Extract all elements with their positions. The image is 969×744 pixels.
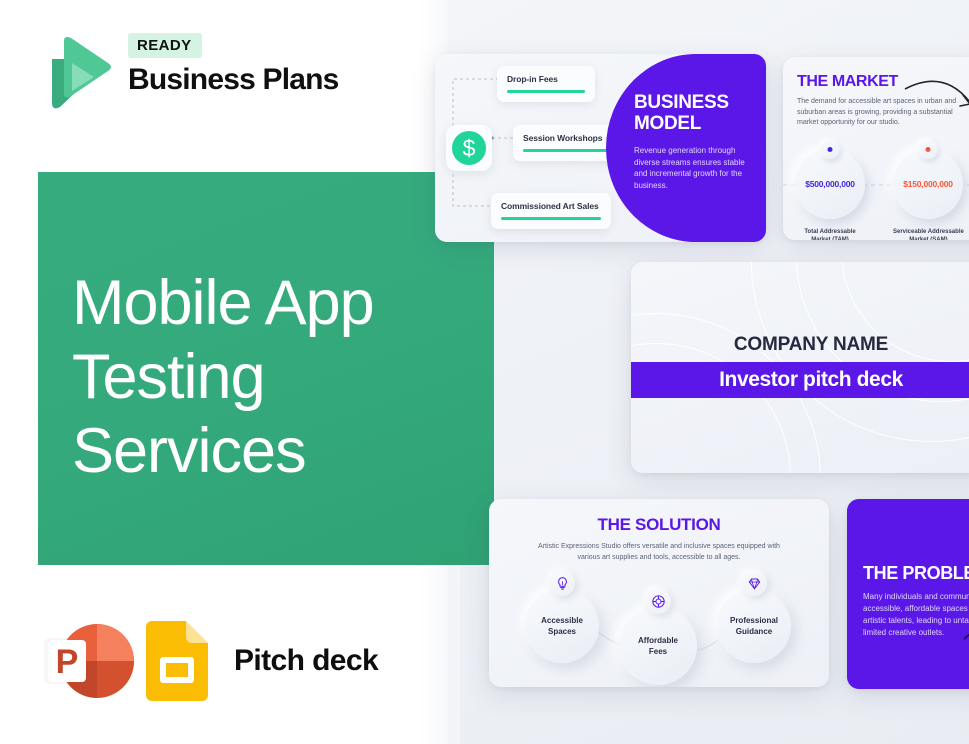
format-footer: P Pitch deck (42, 615, 378, 707)
page-title: Mobile App Testing Services (72, 266, 472, 488)
dollar-icon: $ (452, 131, 486, 165)
problem-title: THE PROBLEM (863, 563, 969, 584)
brand-logo: READY Business Plans (42, 33, 342, 115)
page-title-line-1: Mobile App (72, 266, 472, 340)
brand-name: Business Plans (128, 63, 339, 97)
caption-line-2: Market (SAM) (893, 236, 964, 240)
green-play-logo-icon (42, 35, 114, 111)
page-title-line-2: Testing (72, 340, 472, 414)
brand-logo-text: READY Business Plans (128, 33, 339, 97)
caption-line-1: Total Addressable (795, 228, 865, 236)
slide-market[interactable]: THE MARKET The demand for accessible art… (783, 57, 969, 240)
diamond-icon-holder (741, 570, 767, 596)
chip-label: Commissioned Art Sales (501, 201, 601, 211)
market-metric-1: $500,000,000 Total Addressable Market (T… (795, 149, 865, 240)
market-metric-circle: $150,000,000 (893, 149, 963, 219)
page-title-line-3: Services (72, 414, 472, 488)
market-metric-dot (828, 147, 833, 152)
slide-solution[interactable]: THE SOLUTION Artistic Expressions Studio… (489, 499, 829, 687)
market-metric-value: $150,000,000 (903, 179, 953, 189)
business-model-dollar-badge: $ (446, 125, 492, 171)
business-model-chip-3[interactable]: Commissioned Art Sales (491, 193, 611, 229)
business-model-title-line-2: MODEL (634, 113, 750, 134)
market-metric-dot (926, 147, 931, 152)
chip-bar (501, 217, 601, 220)
powerpoint-icon: P (42, 618, 134, 704)
slide-pitch-deck[interactable]: COMPANY NAME Investor pitch deck (631, 262, 969, 473)
label-line-2: Guidance (730, 626, 778, 637)
svg-text:P: P (56, 643, 79, 681)
problem-description: Many individuals and communities lack ac… (863, 591, 969, 639)
poster-canvas: READY Business Plans Mobile App Testing … (0, 0, 969, 744)
target-icon (651, 594, 666, 609)
format-footer-label: Pitch deck (234, 644, 378, 678)
solution-item-3[interactable]: Professional Guidance (717, 589, 791, 663)
label-line-2: Fees (638, 646, 678, 657)
solution-item-label: Professional Guidance (730, 615, 778, 637)
business-model-title: BUSINESS MODEL (634, 92, 750, 134)
business-model-chip-1[interactable]: Drop-in Fees (497, 66, 595, 102)
pitch-deck-subtitle-band: Investor pitch deck (631, 362, 969, 398)
label-line-1: Accessible (541, 615, 583, 626)
solution-item-label: Affordable Fees (638, 635, 678, 657)
diamond-icon (747, 576, 762, 591)
caption-line-2: Market (TAM) (795, 236, 865, 240)
chip-label: Drop-in Fees (507, 74, 585, 84)
market-metric-caption: Total Addressable Market (TAM) (795, 228, 865, 240)
market-title: THE MARKET (797, 73, 898, 91)
market-metric-caption: Serviceable Addressable Market (SAM) (893, 228, 964, 240)
chip-label: Session Workshops (523, 133, 615, 143)
label-line-1: Professional (730, 615, 778, 626)
google-slides-icon (146, 621, 208, 701)
pitch-deck-subtitle: Investor pitch deck (719, 368, 903, 392)
market-metric-2: $150,000,000 Serviceable Addressable Mar… (893, 149, 964, 240)
market-metric-dot-holder (821, 140, 840, 159)
chip-bar (523, 149, 615, 152)
target-icon-holder (645, 588, 671, 614)
market-metric-value: $500,000,000 (805, 179, 855, 189)
lightbulb-icon (555, 576, 570, 591)
chip-bar (507, 90, 585, 93)
caption-line-1: Serviceable Addressable (893, 228, 964, 236)
slide-problem[interactable]: THE PROBLEM Many individuals and communi… (847, 499, 969, 689)
business-model-title-line-1: BUSINESS (634, 92, 750, 113)
ready-badge: READY (128, 33, 202, 58)
market-metric-circle: $500,000,000 (795, 149, 865, 219)
market-metric-dot-holder (919, 140, 938, 159)
solution-item-1[interactable]: Accessible Spaces (525, 589, 599, 663)
business-model-description: Revenue generation through diverse strea… (634, 145, 750, 191)
curved-arrow-icon (903, 71, 969, 123)
pitch-deck-company-name: COMPANY NAME (631, 334, 969, 356)
label-line-2: Spaces (541, 626, 583, 637)
solution-item-label: Accessible Spaces (541, 615, 583, 637)
lightbulb-icon-holder (549, 570, 575, 596)
solution-item-2[interactable]: Affordable Fees (619, 607, 697, 685)
problem-decor-arc (962, 617, 969, 643)
label-line-1: Affordable (638, 635, 678, 646)
